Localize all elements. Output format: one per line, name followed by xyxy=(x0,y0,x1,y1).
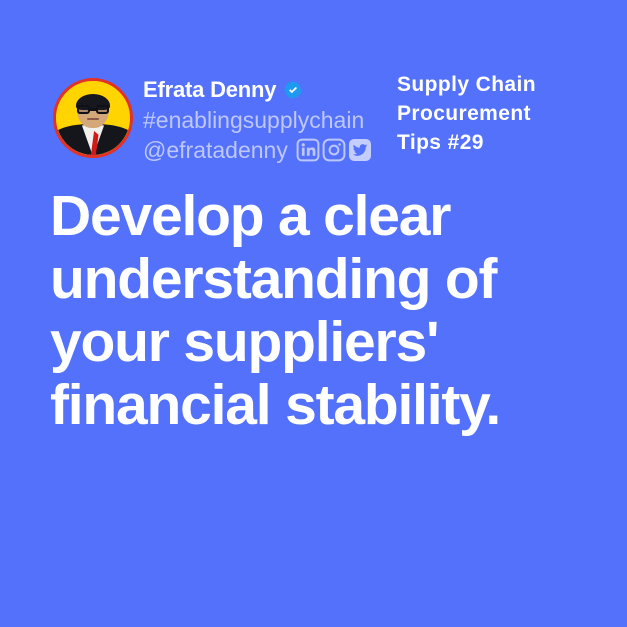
twitter-icon[interactable] xyxy=(348,138,372,162)
series-title: Supply Chain Procurement Tips #29 xyxy=(397,70,607,157)
post-header: Efrata Denny #enablingsupplychain @efrat… xyxy=(0,0,627,180)
headline-line-4: financial stability. xyxy=(50,374,590,437)
series-line-1: Supply Chain xyxy=(397,70,607,99)
social-links xyxy=(296,138,372,162)
series-line-3: Tips #29 xyxy=(397,128,607,157)
headline-line-2: understanding of xyxy=(50,248,590,311)
handle-row: @efratadenny xyxy=(143,135,383,165)
display-name: Efrata Denny xyxy=(143,78,276,102)
headline-line-1: Develop a clear xyxy=(50,185,590,248)
avatar-mouth xyxy=(87,118,98,120)
avatar-glasses-icon xyxy=(77,105,108,113)
instagram-icon[interactable] xyxy=(322,138,346,162)
profile-identity: Efrata Denny #enablingsupplychain @efrat… xyxy=(143,76,383,165)
hashtag-text: #enablingsupplychain xyxy=(143,105,383,135)
social-post-card: Efrata Denny #enablingsupplychain @efrat… xyxy=(0,0,627,627)
headline: Develop a clear understanding of your su… xyxy=(50,185,590,437)
avatar-photo xyxy=(56,81,130,155)
avatar xyxy=(53,78,133,158)
handle-text: @efratadenny xyxy=(143,136,288,164)
linkedin-icon[interactable] xyxy=(296,138,320,162)
headline-line-3: your suppliers' xyxy=(50,311,590,374)
series-line-2: Procurement xyxy=(397,99,607,128)
verified-badge-icon xyxy=(283,80,303,100)
display-name-row: Efrata Denny xyxy=(143,76,383,104)
